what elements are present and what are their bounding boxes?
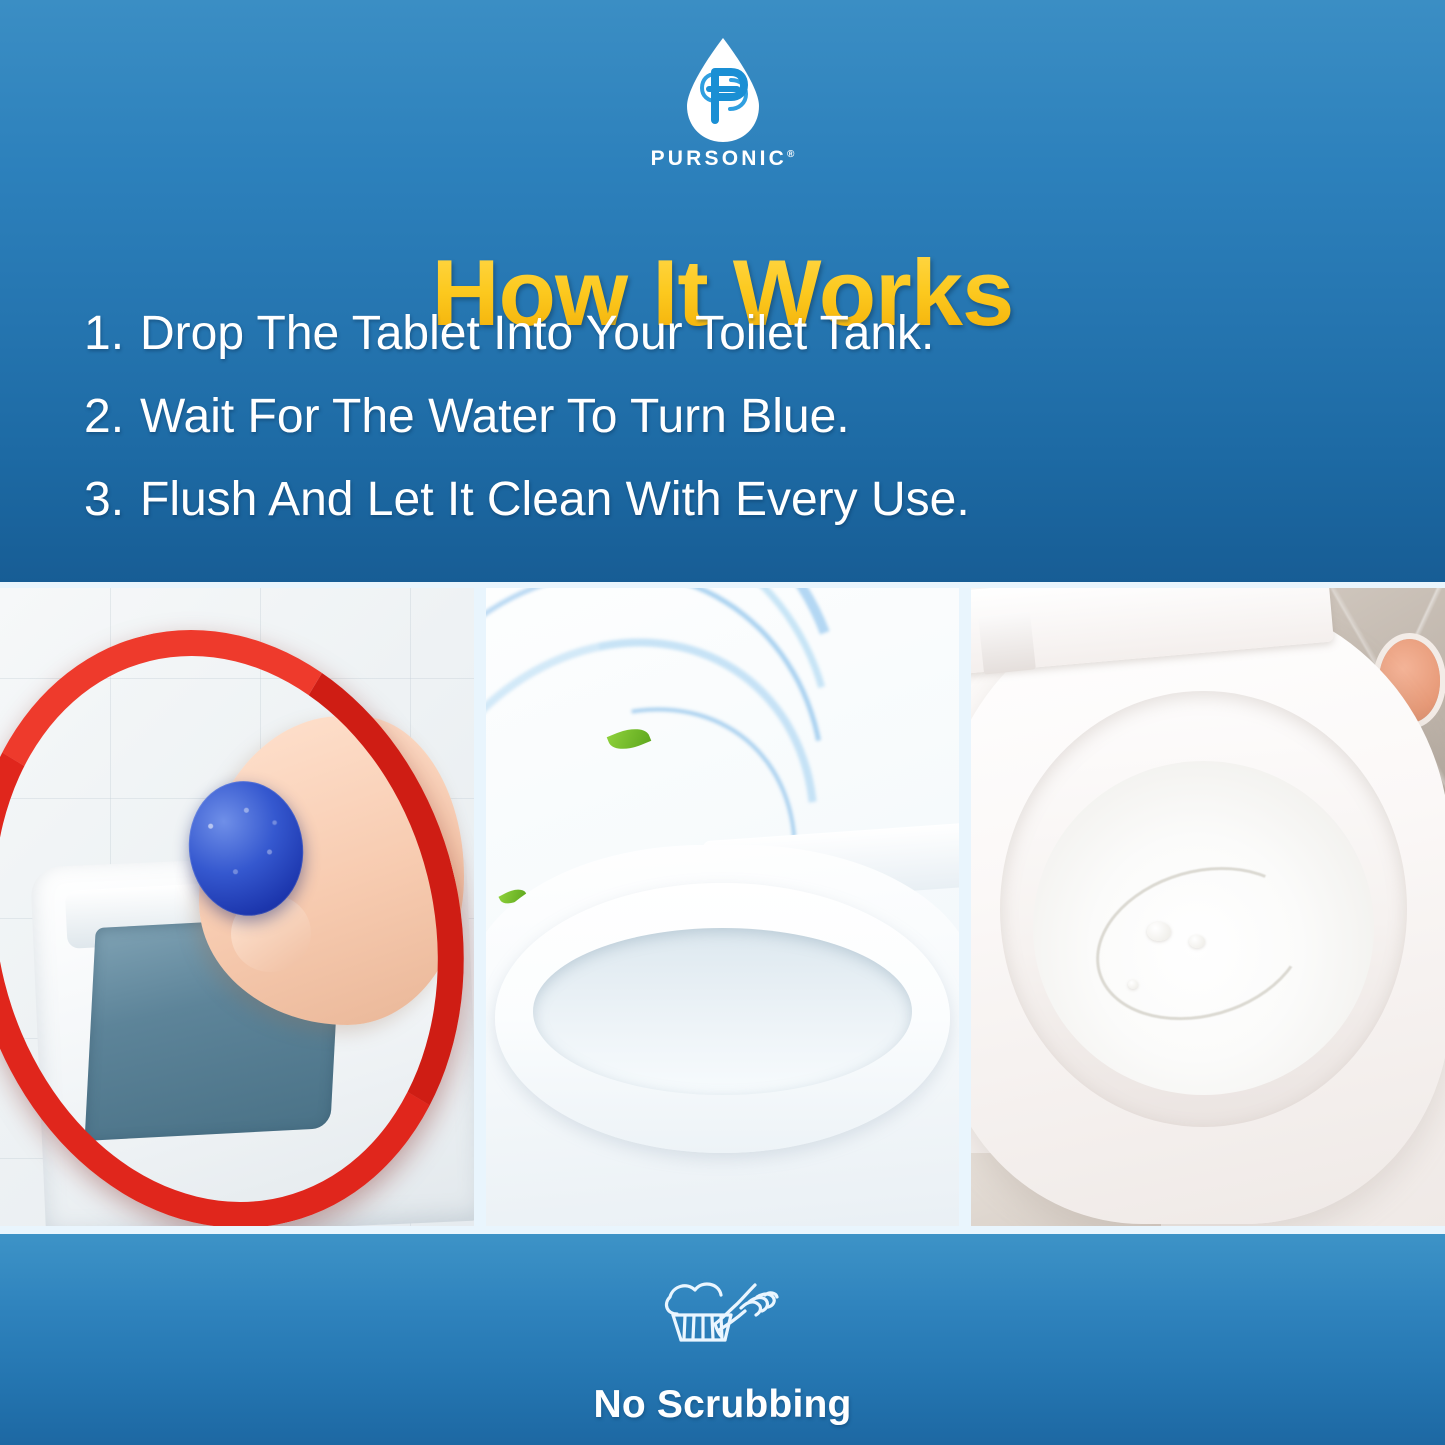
water-bubble bbox=[1128, 980, 1138, 989]
brand-lockup: PURSONIC® bbox=[0, 34, 1445, 169]
how-it-works-infographic: PURSONIC® How It Works 1. Drop The Table… bbox=[0, 0, 1445, 1445]
panel-drop-tablet bbox=[0, 588, 474, 1230]
list-item: 2. Wait For The Water To Turn Blue. bbox=[84, 393, 1364, 441]
water-bubble bbox=[1147, 922, 1171, 941]
hero-section: PURSONIC® How It Works 1. Drop The Table… bbox=[0, 0, 1445, 582]
hand-holding-scrub-brush-icon bbox=[657, 1278, 789, 1369]
panel-fresh-bowl bbox=[486, 588, 960, 1230]
brand-name: PURSONIC® bbox=[651, 148, 795, 169]
toilet-seat-hinge bbox=[978, 611, 1036, 674]
step-number: 3. bbox=[84, 476, 140, 524]
step-text: Drop The Tablet Into Your Toilet Tank. bbox=[140, 310, 934, 358]
brand-name-text: PURSONIC bbox=[651, 147, 787, 170]
list-item: 3. Flush And Let It Clean With Every Use… bbox=[84, 476, 1364, 524]
steps-list: 1. Drop The Tablet Into Your Toilet Tank… bbox=[84, 310, 1364, 559]
water-droplet-p-monogram-icon bbox=[675, 34, 771, 146]
list-item: 1. Drop The Tablet Into Your Toilet Tank… bbox=[84, 310, 1364, 358]
toilet-bowl-opening bbox=[533, 928, 912, 1095]
step-text: Flush And Let It Clean With Every Use. bbox=[140, 476, 970, 524]
step-number: 1. bbox=[84, 310, 140, 358]
registered-trademark-symbol: ® bbox=[787, 149, 794, 160]
step-text: Wait For The Water To Turn Blue. bbox=[140, 393, 850, 441]
footer-section: No Scrubbing bbox=[0, 1234, 1445, 1445]
photo-strip bbox=[0, 582, 1445, 1234]
water-bubble bbox=[1189, 935, 1205, 948]
footer-label: No Scrubbing bbox=[593, 1383, 851, 1427]
panel-clean-bowl bbox=[971, 588, 1445, 1230]
step-number: 2. bbox=[84, 393, 140, 441]
